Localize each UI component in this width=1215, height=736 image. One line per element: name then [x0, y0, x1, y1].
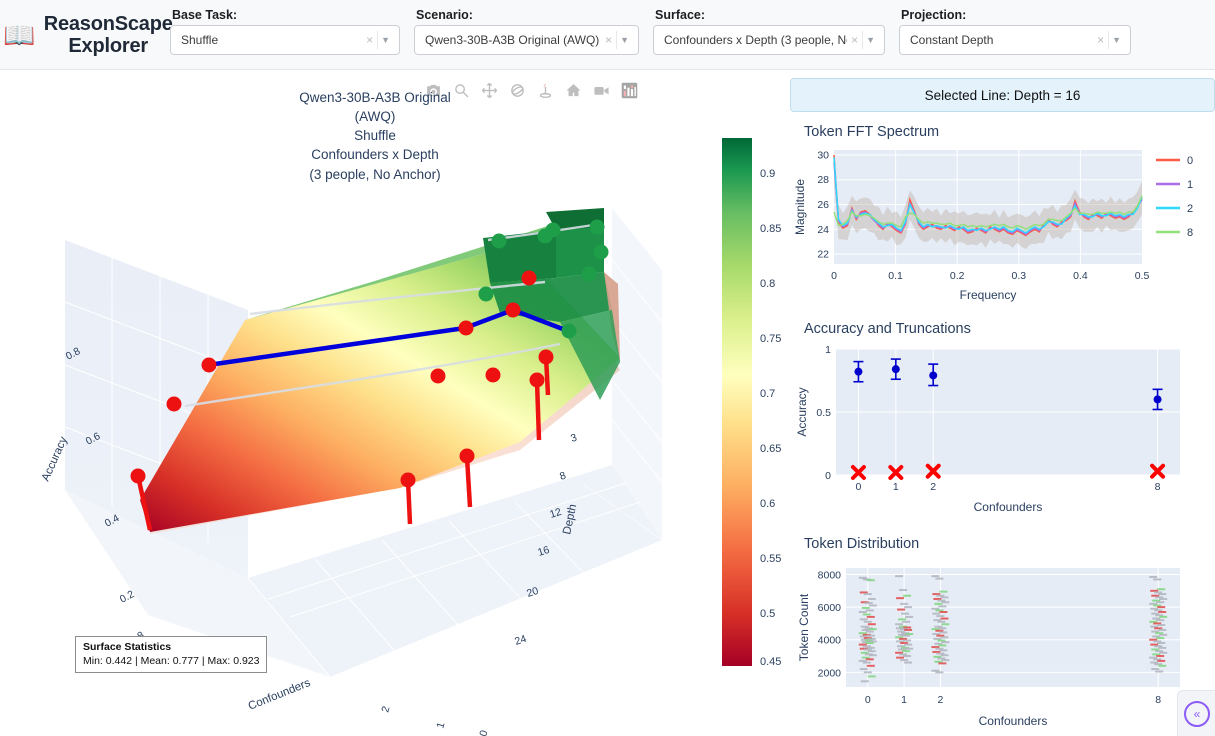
fft-ylabel: Magnitude: [793, 179, 807, 235]
scenario-dropdown[interactable]: Qwen3-30B-A3B Original (AWQ) × ▼: [414, 25, 639, 55]
chevron-down-icon[interactable]: ▼: [1109, 35, 1130, 45]
colorbar-tick-4: 0.7: [760, 388, 775, 400]
fft-legend-label-0: 0: [1187, 155, 1193, 167]
colorbar-tick-3: 0.75: [760, 333, 781, 345]
accuracy-point[interactable]: [1154, 395, 1162, 403]
scenario-label: Scenario:: [416, 8, 639, 22]
colorbar-tick-1: 0.85: [760, 223, 781, 235]
accuracy-colorbar: 0.9 0.85 0.8 0.75 0.7 0.65 0.6 0.55 0.5 …: [722, 138, 756, 666]
fft-xtick: 0.2: [950, 270, 965, 282]
colorbar-tick-5: 0.65: [760, 443, 781, 455]
token-fft-spectrum-svg[interactable]: Token FFT Spectrum 222426283000.10.20.30…: [790, 122, 1215, 302]
surface-value: Confounders x Depth (3 people, No Anchor…: [664, 33, 847, 47]
open-book-icon: 📖: [3, 22, 35, 48]
confounders-tick-1: 2: [379, 705, 392, 714]
projection-clear-icon[interactable]: ×: [1093, 33, 1108, 47]
fft-ytick: 28: [817, 174, 829, 186]
token-ytick: 2000: [818, 667, 842, 679]
chevron-down-icon[interactable]: ▼: [863, 35, 884, 45]
colorbar-tick-0: 0.9: [760, 168, 775, 180]
app-root: 📖 ReasonScape Explorer Base Task: Shuffl…: [0, 0, 1215, 736]
selected-line-banner: Selected Line: Depth = 16: [790, 78, 1215, 112]
accuracy-xtick: 1: [893, 481, 899, 493]
base-task-value: Shuffle: [181, 33, 362, 47]
projection-control: Projection: Constant Depth × ▼: [899, 0, 1131, 55]
base-task-clear-icon[interactable]: ×: [362, 33, 377, 47]
accuracy-point[interactable]: [892, 365, 900, 373]
token-ytick: 4000: [818, 635, 842, 647]
accuracy-xtick: 8: [1155, 481, 1161, 493]
fft-xtick: 0.3: [1011, 270, 1026, 282]
scenario-clear-icon[interactable]: ×: [601, 33, 616, 47]
surface-control: Surface: Confounders x Depth (3 people, …: [653, 0, 885, 55]
chevron-double-left-icon[interactable]: «: [1184, 701, 1210, 727]
fft-ytick: 24: [817, 224, 829, 236]
token-distribution-title: Token Distribution: [804, 536, 919, 552]
fft-legend-label-8: 8: [1187, 227, 1193, 239]
fft-ytick: 26: [817, 199, 829, 211]
accuracy-point[interactable]: [929, 371, 937, 379]
token-xtick: 0: [865, 694, 871, 706]
scenario-control: Scenario: Qwen3-30B-A3B Original (AWQ) ×…: [414, 0, 639, 55]
confounders-tick-3: 0: [477, 729, 490, 736]
chevron-down-icon[interactable]: ▼: [617, 35, 638, 45]
colorbar-tick-6: 0.6: [760, 498, 775, 510]
base-task-control: Base Task: Shuffle × ▼: [170, 0, 400, 55]
chevron-down-icon[interactable]: ▼: [378, 35, 399, 45]
token-distribution-svg[interactable]: Token Distribution 20004000600080000128C…: [790, 532, 1215, 736]
surface-label: Surface:: [655, 8, 885, 22]
selected-line-text: Selected Line: Depth = 16: [925, 88, 1081, 103]
token-fft-spectrum-chart[interactable]: Token FFT Spectrum 222426283000.10.20.30…: [790, 122, 1215, 307]
token-distribution-chart[interactable]: Token Distribution 20004000600080000128C…: [790, 532, 1215, 736]
accuracy-xlabel: Confounders: [974, 500, 1043, 514]
surface-statistics-box: Surface Statistics Min: 0.442 | Mean: 0.…: [75, 636, 267, 673]
surface-statistics-header: Surface Statistics: [83, 640, 259, 654]
token-ytick: 6000: [818, 602, 842, 614]
fft-xtick: 0: [831, 270, 837, 282]
fft-xtick: 0.1: [888, 270, 903, 282]
colorbar-tick-8: 0.5: [760, 608, 775, 620]
surface-clear-icon[interactable]: ×: [847, 33, 862, 47]
depth-tick-5: 24: [513, 633, 528, 648]
surface-statistics-values: Min: 0.442 | Mean: 0.777 | Max: 0.923: [83, 654, 259, 668]
token-ytick: 8000: [818, 570, 842, 582]
accuracy-truncations-chart[interactable]: Accuracy and Truncations 00.510128Confou…: [790, 319, 1215, 524]
accuracy-ytick: 1: [825, 344, 831, 356]
token-xtick: 1: [901, 694, 907, 706]
confounders-tick-2: 1: [434, 721, 447, 730]
colorbar-tick-9: 0.45: [760, 656, 781, 668]
app-title-line2: Explorer: [44, 35, 173, 57]
accuracy-ytick: 0: [825, 470, 831, 482]
token-ylabel: Token Count: [797, 593, 811, 661]
accuracy-ytick: 0.5: [816, 407, 831, 419]
surface-dropdown[interactable]: Confounders x Depth (3 people, No Anchor…: [653, 25, 885, 55]
fft-legend-label-1: 1: [1187, 179, 1193, 191]
fft-legend-label-2: 2: [1187, 203, 1193, 215]
projection-dropdown[interactable]: Constant Depth × ▼: [899, 25, 1131, 55]
app-title: ReasonScape Explorer: [44, 13, 173, 57]
accuracy-truncations-svg[interactable]: Accuracy and Truncations 00.510128Confou…: [790, 319, 1215, 519]
detail-panel: Selected Line: Depth = 16 Token FFT Spec…: [790, 78, 1215, 736]
confounders-axis-label: Confounders: [247, 677, 313, 713]
projection-value: Constant Depth: [910, 33, 1093, 47]
fft-xtick: 0.5: [1135, 270, 1150, 282]
app-brand: 📖 ReasonScape Explorer: [0, 0, 170, 70]
colorbar-tick-2: 0.8: [760, 278, 775, 290]
token-xtick: 8: [1155, 694, 1161, 706]
projection-label: Projection:: [901, 8, 1131, 22]
fft-xtick: 0.4: [1073, 270, 1088, 282]
token-xlabel: Confounders: [979, 714, 1048, 728]
accuracy-xtick: 2: [930, 481, 936, 493]
base-task-label: Base Task:: [172, 8, 400, 22]
scenario-value: Qwen3-30B-A3B Original (AWQ): [425, 33, 601, 47]
accuracy-point[interactable]: [854, 368, 862, 376]
surface-3d-plot[interactable]: z Qwen3-30B-A3B Original (AWQ) Shuffle C…: [0, 70, 700, 736]
fft-ytick: 30: [817, 149, 829, 161]
app-title-line1: ReasonScape: [44, 13, 173, 35]
accuracy-xtick: 0: [856, 481, 862, 493]
app-header: 📖 ReasonScape Explorer Base Task: Shuffl…: [0, 0, 1215, 70]
fft-xlabel: Frequency: [960, 288, 1017, 302]
accuracy-truncations-title: Accuracy and Truncations: [804, 321, 971, 337]
colorbar-tick-7: 0.55: [760, 553, 781, 565]
fft-ytick: 22: [817, 249, 829, 261]
accuracy-ylabel: Accuracy: [795, 387, 809, 436]
colorbar-gradient: [722, 138, 752, 666]
token-xtick: 2: [937, 694, 943, 706]
token-fft-spectrum-title: Token FFT Spectrum: [804, 124, 939, 140]
base-task-dropdown[interactable]: Shuffle × ▼: [170, 25, 400, 55]
collapse-panel-button[interactable]: «: [1177, 690, 1215, 736]
